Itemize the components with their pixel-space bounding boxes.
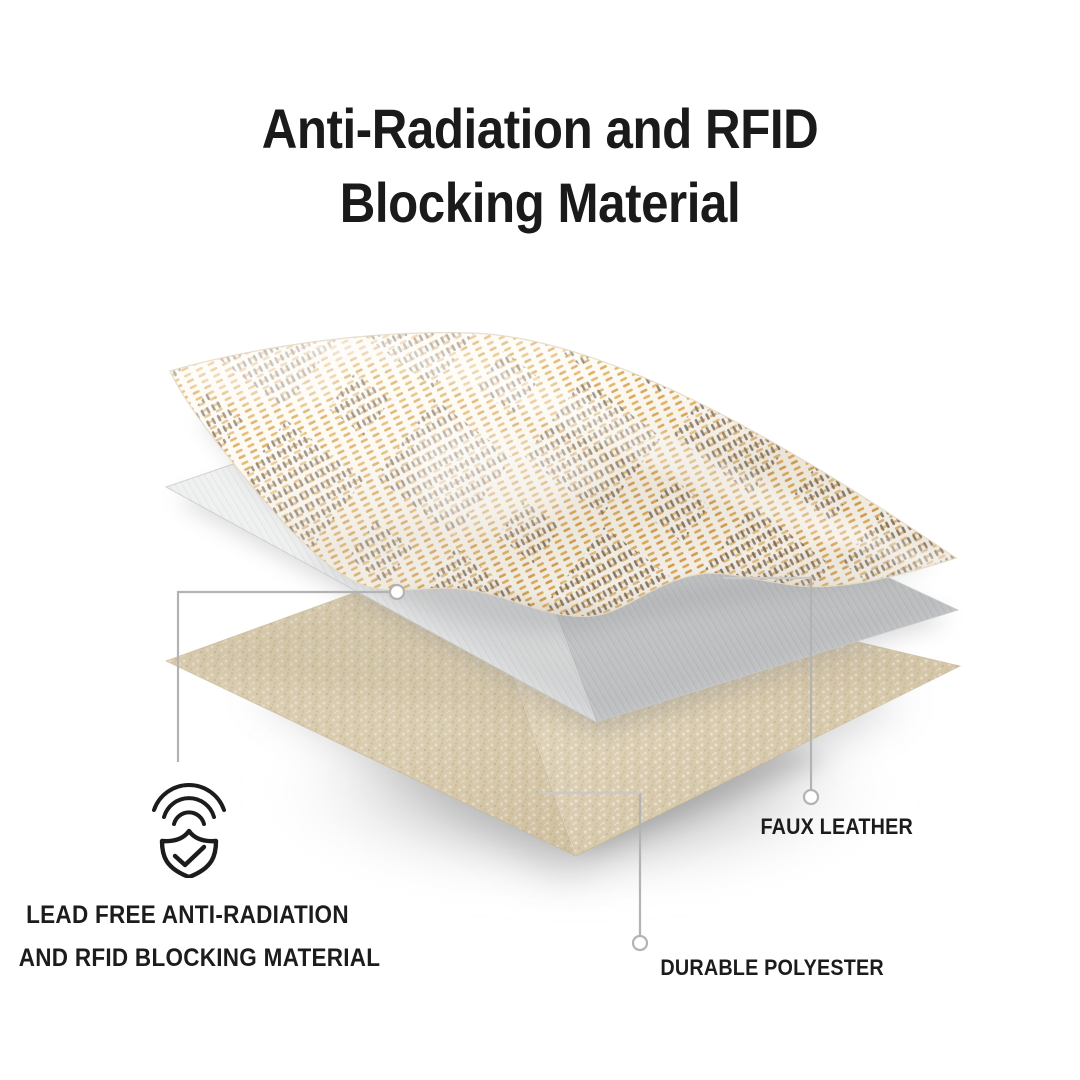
callout-label-faux-leather: FAUX LEATHER [760,814,913,840]
check-mark-icon [175,847,204,865]
shield-outline [162,831,216,877]
callout-label-anti-radiation-line-2: AND RFID BLOCKING MATERIAL [19,937,357,980]
signal-arc-inner [174,812,204,824]
callout-label-anti-radiation: LEAD FREE ANTI-RADIATION AND RFID BLOCKI… [0,894,375,980]
callout-label-durable-polyester: DURABLE POLYESTER [660,955,883,981]
product-infographic: Anti-Radiation and RFID Blocking Materia… [0,0,1080,1080]
page-title-line-1: Anti-Radiation and RFID [65,92,1015,166]
page-title-line-2: Blocking Material [65,166,1015,240]
shield-check-signal-icon [142,776,236,878]
page-title: Anti-Radiation and RFID Blocking Materia… [0,92,1080,240]
callout-label-anti-radiation-line-1: LEAD FREE ANTI-RADIATION [19,894,357,937]
